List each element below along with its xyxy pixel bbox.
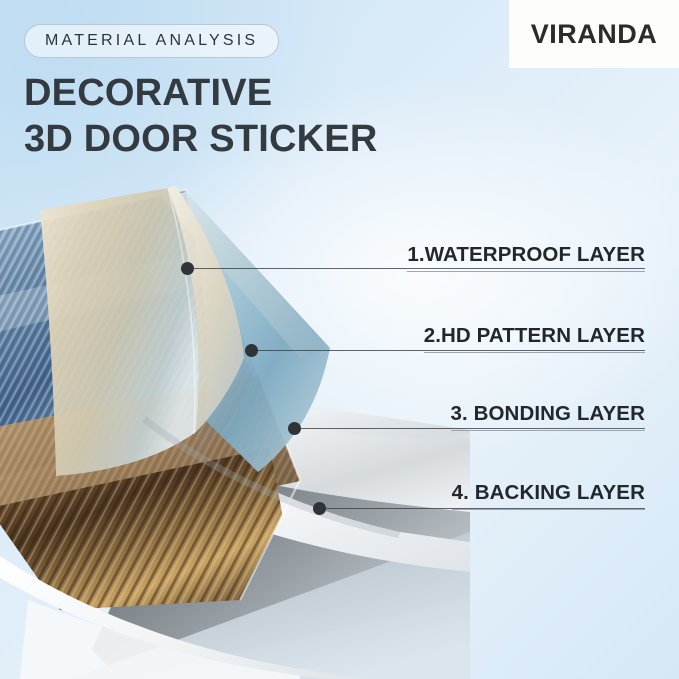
callout-leader-2 [257,350,645,351]
callout-label-2: 2.HD PATTERN LAYER [424,324,645,353]
callout-rule-4 [452,509,645,510]
material-analysis-badge: MATERIAL ANALYSIS [24,24,279,58]
callout-dot-3 [288,422,301,435]
callout-text-4: 4. BACKING LAYER [452,481,645,505]
callout-rule-3 [451,430,646,431]
callout-text-2: 2.HD PATTERN LAYER [424,324,645,348]
callout-leader-4 [325,508,645,509]
callout-dot-1 [181,262,194,275]
callout-leader-3 [300,428,645,429]
brand-logo: VIRANDA [509,0,679,68]
callout-dot-2 [245,344,258,357]
callout-leader-1 [193,268,645,269]
callout-label-4: 4. BACKING LAYER [452,481,645,510]
material-analysis-infographic: MATERIAL ANALYSIS DECORATIVE 3D DOOR STI… [0,0,679,679]
callout-label-3: 3. BONDING LAYER [451,402,646,431]
callout-rule-2 [424,352,645,353]
brand-name: VIRANDA [531,19,658,50]
callout-rule-1 [407,271,645,272]
badge-label: MATERIAL ANALYSIS [45,32,258,50]
callout-dot-4 [313,502,326,515]
peeling-sticker-artwork [0,180,470,679]
callout-text-1: 1.WATERPROOF LAYER [407,243,645,267]
callout-text-3: 3. BONDING LAYER [451,402,646,426]
page-title: DECORATIVE 3D DOOR STICKER [24,70,377,163]
